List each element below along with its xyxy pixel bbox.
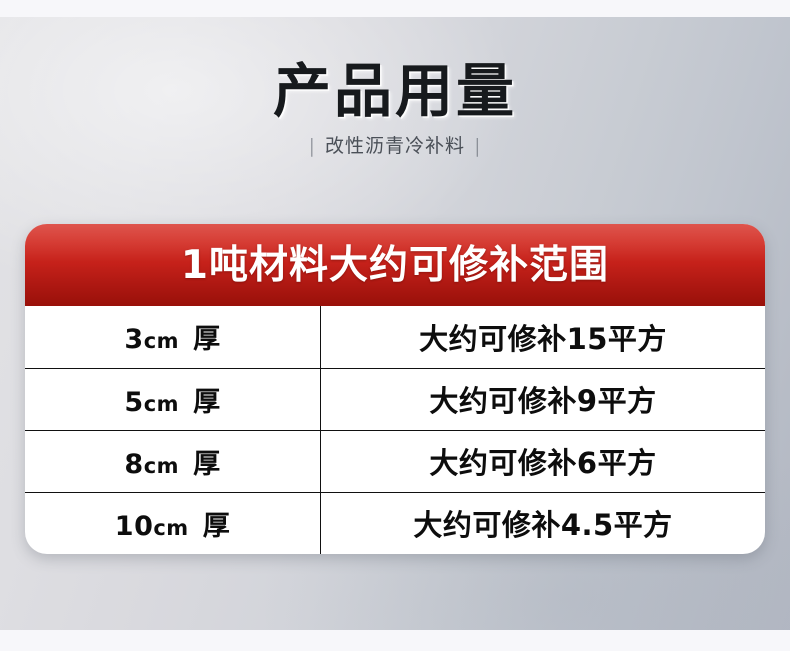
subtitle-bar-left: | bbox=[300, 137, 325, 156]
usage-card-banner: 1吨材料大约可修补范围 bbox=[25, 224, 765, 306]
cell-thickness: 3cm厚 bbox=[25, 306, 321, 368]
thickness-suffix: 厚 bbox=[193, 387, 221, 418]
thickness-unit: cm bbox=[144, 454, 179, 478]
thickness-value: 5 bbox=[124, 387, 143, 418]
page-subtitle: |改性沥青冷补料| bbox=[0, 137, 790, 156]
thickness-suffix: 厚 bbox=[193, 449, 221, 480]
thickness-unit: cm bbox=[153, 516, 188, 540]
cell-thickness: 5cm厚 bbox=[25, 368, 321, 430]
thickness-suffix: 厚 bbox=[193, 324, 221, 355]
cell-area: 大约可修补6平方 bbox=[321, 430, 766, 492]
thickness-suffix: 厚 bbox=[203, 511, 231, 542]
subtitle-label: 改性沥青冷补料 bbox=[325, 135, 465, 157]
table-row: 5cm厚 大约可修补9平方 bbox=[25, 368, 765, 430]
thickness-unit: cm bbox=[144, 392, 179, 416]
thickness-value: 10 bbox=[115, 511, 154, 542]
thickness-unit: cm bbox=[144, 329, 179, 353]
page-title: 产品用量 bbox=[0, 62, 790, 120]
thickness-value: 8 bbox=[124, 449, 143, 480]
table-row: 3cm厚 大约可修补15平方 bbox=[25, 306, 765, 368]
table-row: 10cm厚 大约可修补4.5平方 bbox=[25, 492, 765, 554]
promo-page: 产品用量 |改性沥青冷补料| 1吨材料大约可修补范围 3cm厚 大约可修补15平… bbox=[0, 0, 790, 651]
usage-table: 3cm厚 大约可修补15平方 5cm厚 大约可修补9平方 8cm厚 大约可修补6… bbox=[25, 306, 765, 554]
banner-title: 1吨材料大约可修补范围 bbox=[181, 246, 609, 285]
cell-area: 大约可修补15平方 bbox=[321, 306, 766, 368]
subtitle-bar-right: | bbox=[465, 137, 490, 156]
thickness-value: 3 bbox=[124, 324, 143, 355]
cell-thickness: 10cm厚 bbox=[25, 492, 321, 554]
cell-area: 大约可修补9平方 bbox=[321, 368, 766, 430]
page-heading: 产品用量 |改性沥青冷补料| bbox=[0, 62, 790, 156]
cell-thickness: 8cm厚 bbox=[25, 430, 321, 492]
table-row: 8cm厚 大约可修补6平方 bbox=[25, 430, 765, 492]
cell-area: 大约可修补4.5平方 bbox=[321, 492, 766, 554]
usage-card: 1吨材料大约可修补范围 3cm厚 大约可修补15平方 5cm厚 大约可修补9平方… bbox=[25, 224, 765, 554]
